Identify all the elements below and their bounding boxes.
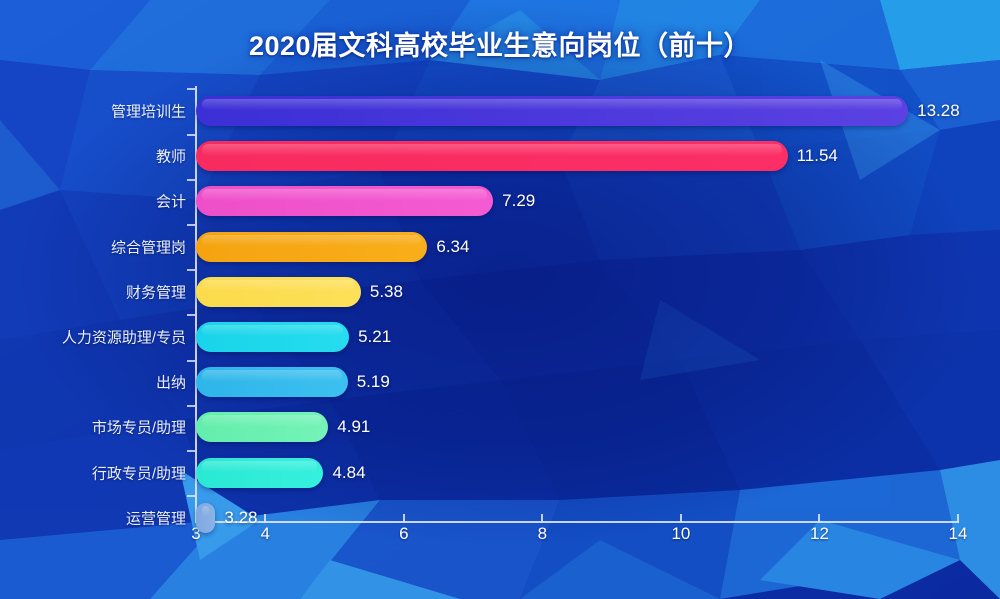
y-axis-tick — [187, 134, 195, 136]
x-axis-tick — [680, 514, 682, 522]
bar[interactable] — [196, 503, 215, 533]
y-axis-tick — [187, 405, 195, 407]
bar[interactable] — [196, 232, 427, 262]
chart-title: 2020届文科高校毕业生意向岗位（前十） — [0, 24, 1000, 63]
y-axis-tick — [187, 360, 195, 362]
x-axis-tick — [818, 514, 820, 522]
bar-value-label: 3.28 — [224, 508, 257, 528]
y-axis-tick — [187, 269, 195, 271]
bar-value-label: 5.38 — [370, 282, 403, 302]
bar[interactable] — [196, 141, 788, 171]
y-axis-tick — [187, 314, 195, 316]
x-axis-tick-label: 8 — [538, 524, 547, 544]
x-axis-tick — [957, 514, 959, 522]
y-axis-tick — [187, 179, 195, 181]
x-axis-tick — [264, 514, 266, 522]
bar-value-label: 13.28 — [917, 101, 960, 121]
bar-value-label: 5.19 — [357, 372, 390, 392]
x-axis-tick-label: 10 — [671, 524, 690, 544]
x-axis-tick — [403, 514, 405, 522]
chart-canvas: 2020届文科高校毕业生意向岗位（前十） 3468101214 13.2811.… — [0, 0, 1000, 599]
y-axis-tick — [187, 450, 195, 452]
x-axis-tick-label: 6 — [399, 524, 408, 544]
bar[interactable] — [196, 458, 323, 488]
bar-value-label: 7.29 — [502, 191, 535, 211]
bar-value-label: 11.54 — [797, 146, 838, 166]
x-axis-tick-label: 4 — [261, 524, 270, 544]
bar-value-label: 5.21 — [358, 327, 391, 347]
bar[interactable] — [196, 412, 328, 442]
plot-area: 3468101214 13.2811.547.296.345.385.215.1… — [0, 0, 1000, 599]
bar[interactable] — [196, 322, 349, 352]
x-axis-tick — [541, 514, 543, 522]
bar-value-label: 4.84 — [332, 463, 365, 483]
y-axis-tick — [187, 88, 195, 90]
bar[interactable] — [196, 96, 908, 126]
x-axis-tick-label: 12 — [810, 524, 829, 544]
x-axis-tick-label: 14 — [949, 524, 968, 544]
y-axis-tick — [187, 495, 195, 497]
bar-value-label: 4.91 — [337, 417, 370, 437]
y-axis-tick — [187, 224, 195, 226]
bar[interactable] — [196, 277, 361, 307]
x-axis-line — [195, 521, 959, 523]
bar-value-label: 6.34 — [436, 237, 469, 257]
bar[interactable] — [196, 186, 493, 216]
bar[interactable] — [196, 367, 348, 397]
